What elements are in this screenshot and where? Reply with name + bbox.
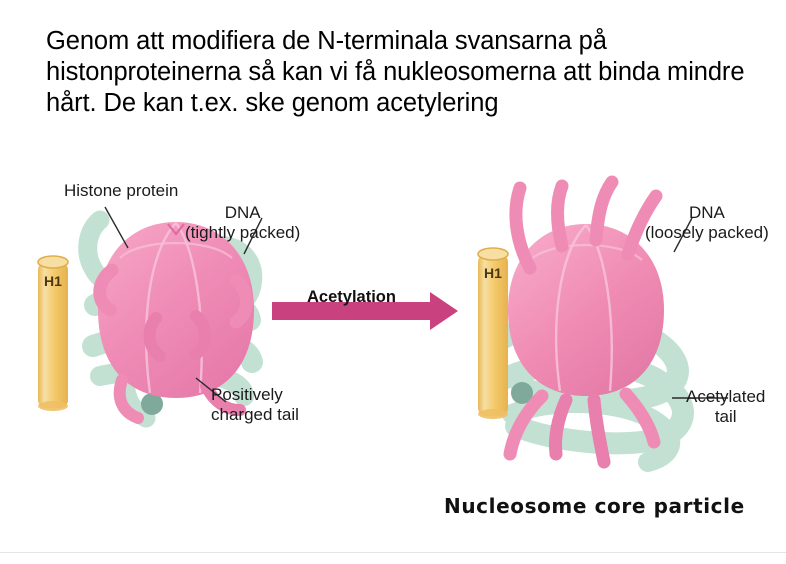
label-dna-loosely-packed: DNA (loosely packed) <box>645 203 769 243</box>
right-histone-core <box>508 224 664 396</box>
label-acetylation: Acetylation <box>307 288 396 307</box>
bottom-divider <box>0 552 786 553</box>
left-histone-core <box>98 222 254 398</box>
right-h1-label: H1 <box>484 265 502 281</box>
label-histone-protein: Histone protein <box>64 181 178 201</box>
right-h1-cylinder: H1 <box>478 248 508 419</box>
slide-canvas: Genom att modifiera de N-terminala svans… <box>0 0 786 564</box>
page-title: Genom att modifiera de N-terminala svans… <box>46 26 762 119</box>
label-positively-charged-tail: Positively charged tail <box>211 385 299 425</box>
label-dna-tightly-packed: DNA (tightly packed) <box>185 203 300 243</box>
diagram-caption: Nucleosome core particle <box>444 494 745 518</box>
label-acetylated-tail: Acetylated tail <box>686 387 765 427</box>
left-h1-label: H1 <box>44 273 62 289</box>
left-h1-cylinder: H1 <box>38 256 68 411</box>
